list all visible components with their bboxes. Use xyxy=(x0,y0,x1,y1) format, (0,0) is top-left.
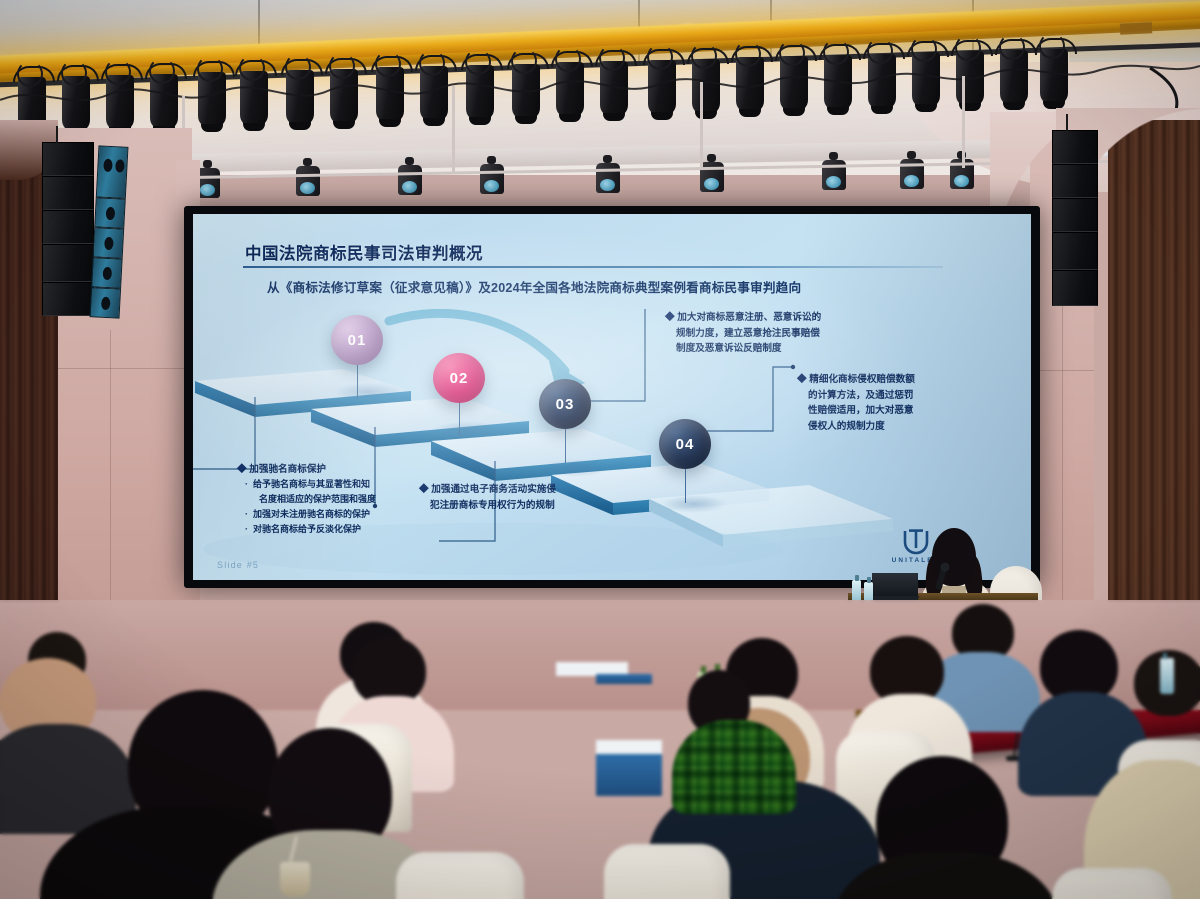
callout-02: ◆ 加强通过电子商务活动实施侵 犯注册商标专用权行为的规制 xyxy=(419,482,556,513)
audience-area xyxy=(0,600,1200,899)
step-circle-04: 04 xyxy=(659,419,711,469)
audience-chair xyxy=(604,844,730,899)
callout-03-line-3: 制度及恶意诉讼反赔制度 xyxy=(665,341,821,357)
conference-hall-photo: 中国法院商标民事司法审判概况 从《商标法修订草案（征求意见稿）》及2024年全国… xyxy=(0,0,1200,899)
callout-04-line-3: 性赔偿适用，加大对恶意 xyxy=(797,403,915,419)
line-array-speaker-right xyxy=(1052,130,1098,306)
bullet-diamond-icon: ◆ xyxy=(237,464,247,475)
bullet-diamond-icon: ◆ xyxy=(665,312,675,323)
table-placard-top xyxy=(596,740,662,754)
slide-number-label: Slide #5 xyxy=(217,560,259,570)
callout-02-line-1: 加强通过电子商务活动实施侵 xyxy=(431,484,556,495)
callout-01: ◆ 加强驰名商标保护 · 给予驰名商标与其显著性和知 名度相适应的保护范围和强度… xyxy=(237,462,376,537)
callout-01-sub-1b: 名度相适应的保护范围和强度 xyxy=(259,494,376,504)
water-bottle xyxy=(1160,658,1174,694)
step-number-03: 03 xyxy=(556,396,575,413)
stage-light-lens xyxy=(300,182,315,194)
callout-01-sub-3: 对驰名商标给予反淡化保护 xyxy=(253,524,361,534)
callout-01-heading: 加强驰名商标保护 xyxy=(249,464,326,475)
callout-03-line-2: 规制力度，建立恶意抢注民事赔偿 xyxy=(665,326,821,342)
laptop-screen[interactable] xyxy=(872,573,918,598)
bullet-diamond-icon: ◆ xyxy=(797,374,807,385)
drink-cup xyxy=(280,862,310,896)
audience-chair xyxy=(396,852,524,899)
callout-04-line-4: 侵权人的规制力度 xyxy=(797,419,915,435)
callout-04-line-2: 的计算方法，及通过惩罚 xyxy=(797,388,915,404)
callout-02-line-2: 犯注册商标专用权行为的规制 xyxy=(419,498,556,514)
slide-subtitle: 从《商标法修订草案（征求意见稿）》及2024年全国各地法院商标典型案例看商标民事… xyxy=(267,277,801,296)
presentation-slide: 中国法院商标民事司法审判概况 从《商标法修订草案（征求意见稿）》及2024年全国… xyxy=(193,214,1031,580)
table-sign xyxy=(596,674,652,684)
line-array-speaker-left xyxy=(42,142,94,316)
table-placard xyxy=(596,752,662,796)
step-number-01: 01 xyxy=(348,332,367,349)
callout-01-sub-2: 加强对未注册驰名商标的保护 xyxy=(253,509,370,519)
projection-screen-frame: 中国法院商标民事司法审判概况 从《商标法修订草案（征求意见稿）》及2024年全国… xyxy=(184,206,1040,588)
callout-03-line-1: 加大对商标恶意注册、恶意诉讼的 xyxy=(677,312,821,323)
ceiling-vent xyxy=(1120,21,1153,34)
step-circle-02: 02 xyxy=(433,353,485,403)
step-circle-03: 03 xyxy=(539,379,591,429)
stage-light-lens xyxy=(200,184,215,196)
callout-03: ◆ 加大对商标恶意注册、恶意诉讼的 规制力度，建立恶意抢注民事赔偿 制度及恶意诉… xyxy=(665,310,821,357)
callout-04: ◆ 精细化商标侵权赔偿数额 的计算方法，及通过惩罚 性赔偿适用，加大对恶意 侵权… xyxy=(797,372,915,434)
slide-title: 中国法院商标民事司法审判概况 xyxy=(245,240,483,264)
bullet-diamond-icon: ◆ xyxy=(419,484,429,495)
step-number-04: 04 xyxy=(676,436,695,453)
callout-01-sub-1a: 给予驰名商标与其显著性和知 xyxy=(253,479,370,489)
audience-chair xyxy=(1052,868,1172,899)
step-number-02: 02 xyxy=(450,370,469,387)
step-circle-01: 01 xyxy=(331,315,383,365)
audience-body-plaid xyxy=(672,720,796,814)
callout-04-line-1: 精细化商标侵权赔偿数额 xyxy=(809,374,915,385)
title-divider xyxy=(243,266,943,268)
